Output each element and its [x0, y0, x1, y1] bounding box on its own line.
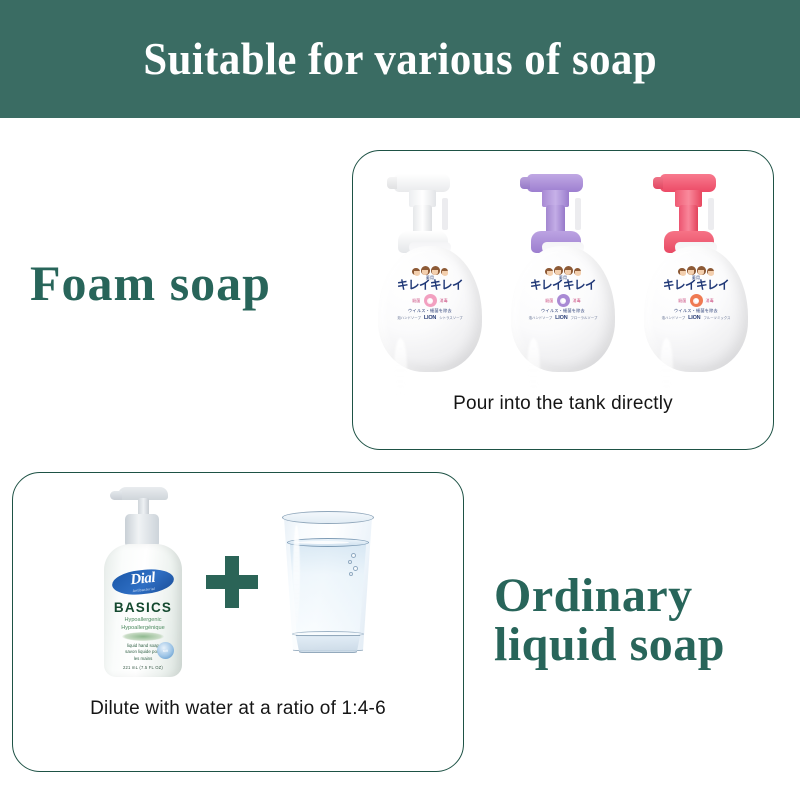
label-footer: 泡ハンドソープ LION シトラスソープ	[388, 316, 472, 322]
bottle-label: 薬用 キレイキレイ 殺菌 消毒 ウイルス・細菌を除去 泡ハンドソープ LION …	[521, 266, 605, 322]
label-badge-row: 殺菌 消毒	[654, 294, 738, 307]
badge-right-text: 消毒	[573, 299, 581, 303]
family-illustration-icon	[654, 266, 738, 275]
lion-logo: LION	[555, 316, 567, 322]
dial-hypo-fr: Hypoallergénique	[104, 625, 182, 633]
water-bubbles-icon	[348, 553, 358, 575]
bottle-label: 薬用 キレイキレイ 殺菌 消毒 ウイルス・細菌を除去 泡ハンドソープ LION …	[654, 266, 738, 322]
dial-brand-subtext: Antibacterial	[132, 587, 155, 593]
liquid-soap-caption: Dilute with water at a ratio of 1:4-6	[12, 698, 464, 720]
family-illustration-icon	[521, 266, 605, 275]
label-subtitle: ウイルス・細菌を除去	[388, 309, 472, 313]
label-footer-right: フルーツミックス	[703, 317, 730, 320]
liquid-soap-illustration-row: Dial Antibacterial BASICS Hypoallergenic…	[12, 472, 464, 692]
glass-highlight	[293, 525, 300, 625]
dial-logo-badge: Dial Antibacterial	[111, 567, 175, 597]
dial-seal-icon: soft	[157, 642, 174, 659]
label-footer: 泡ハンドソープ LION フルーツミックス	[654, 316, 738, 322]
foam-bottle-purple: 薬用 キレイキレイ 殺菌 消毒 ウイルス・細菌を除去 泡ハンドソープ LION …	[505, 170, 621, 376]
water-glass-illustration	[276, 507, 380, 657]
lion-logo: LION	[688, 316, 700, 322]
label-footer-right: シトラスソープ	[439, 317, 462, 320]
label-badge-row: 殺菌 消毒	[388, 294, 472, 307]
page-title: Suitable for various of soap	[143, 36, 657, 82]
label-footer-left: 泡ハンドソープ	[529, 317, 553, 320]
pump-tube	[442, 198, 448, 230]
pump-tube	[708, 198, 714, 230]
label-brand: キレイキレイ	[654, 280, 738, 292]
label-footer-left: 泡ハンドソープ	[397, 317, 421, 320]
flower-badge-icon	[557, 294, 570, 307]
bottle-gloss	[660, 338, 673, 398]
dial-brand-text: Dial	[130, 571, 156, 588]
ordinary-liquid-soap-label: Ordinary liquid soap	[494, 572, 725, 670]
dial-volume-text: 221 mL (7.5 FL OZ)	[104, 665, 182, 670]
plus-sign-icon	[206, 556, 258, 608]
foam-bottle-group: 薬用 キレイキレイ 殺菌 消毒 ウイルス・細菌を除去 泡ハンドソープ LION …	[372, 166, 754, 376]
badge-left-text: 殺菌	[412, 299, 420, 303]
label-subtitle: ウイルス・細菌を除去	[654, 309, 738, 313]
bottle-label: 薬用 キレイキレイ 殺菌 消毒 ウイルス・細菌を除去 泡ハンドソープ LION …	[388, 266, 472, 322]
foam-soap-caption: Pour into the tank directly	[352, 393, 774, 415]
bottle-gloss	[527, 338, 540, 398]
plus-vertical-bar	[225, 556, 239, 608]
glass-rim	[282, 511, 374, 524]
ordinary-label-line2: liquid soap	[494, 621, 725, 670]
flower-badge-icon	[424, 294, 437, 307]
label-brand: キレイキレイ	[388, 280, 472, 292]
lion-logo: LION	[424, 316, 436, 322]
dial-soap-bottle: Dial Antibacterial BASICS Hypoallergenic…	[96, 487, 188, 677]
dial-hypo-en: Hypoallergenic	[104, 617, 182, 625]
foam-soap-label: Foam soap	[30, 258, 271, 309]
foam-bottle-white: 薬用 キレイキレイ 殺菌 消毒 ウイルス・細菌を除去 泡ハンドソープ LION …	[372, 170, 488, 376]
badge-right-text: 消毒	[440, 299, 448, 303]
glass-base	[293, 635, 363, 653]
label-brand: キレイキレイ	[521, 280, 605, 292]
flower-badge-icon	[690, 294, 703, 307]
header-banner: Suitable for various of soap	[0, 0, 800, 118]
dial-hypoallergenic-text: Hypoallergenic Hypoallergénique	[104, 617, 182, 632]
label-subtitle: ウイルス・細菌を除去	[521, 309, 605, 313]
label-footer-right: フローラルソープ	[570, 317, 597, 320]
dial-product-line: BASICS	[104, 600, 182, 615]
label-footer-left: 泡ハンドソープ	[662, 317, 686, 320]
badge-left-text: 殺菌	[678, 299, 686, 303]
leaf-graphic-icon	[122, 632, 164, 641]
pump-tube	[575, 198, 581, 230]
badge-left-text: 殺菌	[545, 299, 553, 303]
dial-pump-collar	[125, 514, 159, 548]
label-badge-row: 殺菌 消毒	[521, 294, 605, 307]
label-footer: 泡ハンドソープ LION フローラルソープ	[521, 316, 605, 322]
badge-right-text: 消毒	[706, 299, 714, 303]
ordinary-label-line1: Ordinary	[494, 572, 725, 621]
bottle-gloss	[394, 338, 407, 398]
family-illustration-icon	[388, 266, 472, 275]
foam-bottle-pink: 薬用 キレイキレイ 殺菌 消毒 ウイルス・細菌を除去 泡ハンドソープ LION …	[638, 170, 754, 376]
dial-bottle-body: Dial Antibacterial BASICS Hypoallergenic…	[104, 544, 182, 677]
